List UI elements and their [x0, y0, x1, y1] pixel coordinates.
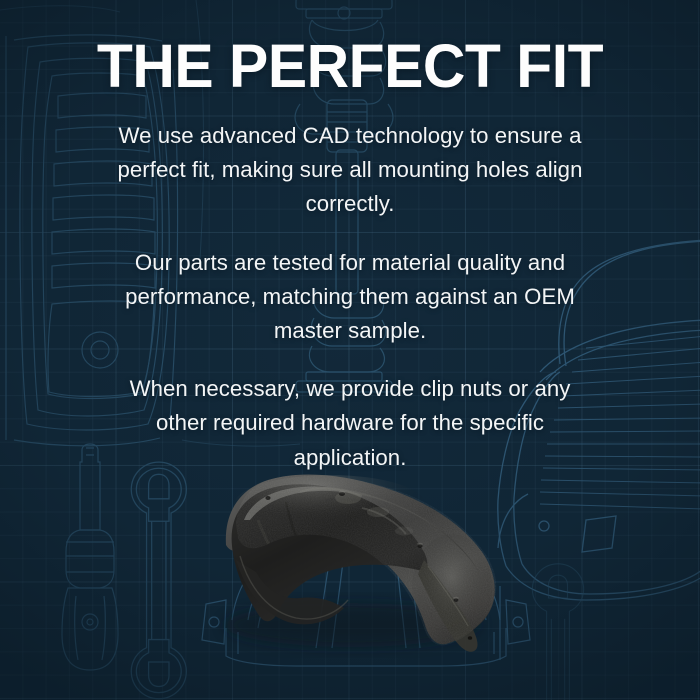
- content-stack: THE PERFECT FIT We use advanced CAD tech…: [0, 0, 700, 700]
- paragraph-cad-technology: We use advanced CAD technology to ensure…: [104, 119, 596, 222]
- paragraph-material-quality: Our parts are tested for material qualit…: [104, 246, 596, 349]
- paragraph-clip-nuts-hardware: When necessary, we provide clip nuts or …: [104, 372, 596, 475]
- infographic-canvas: THE PERFECT FIT We use advanced CAD tech…: [0, 0, 700, 700]
- body-copy-block: We use advanced CAD technology to ensure…: [0, 119, 700, 475]
- page-title: THE PERFECT FIT: [12, 36, 688, 97]
